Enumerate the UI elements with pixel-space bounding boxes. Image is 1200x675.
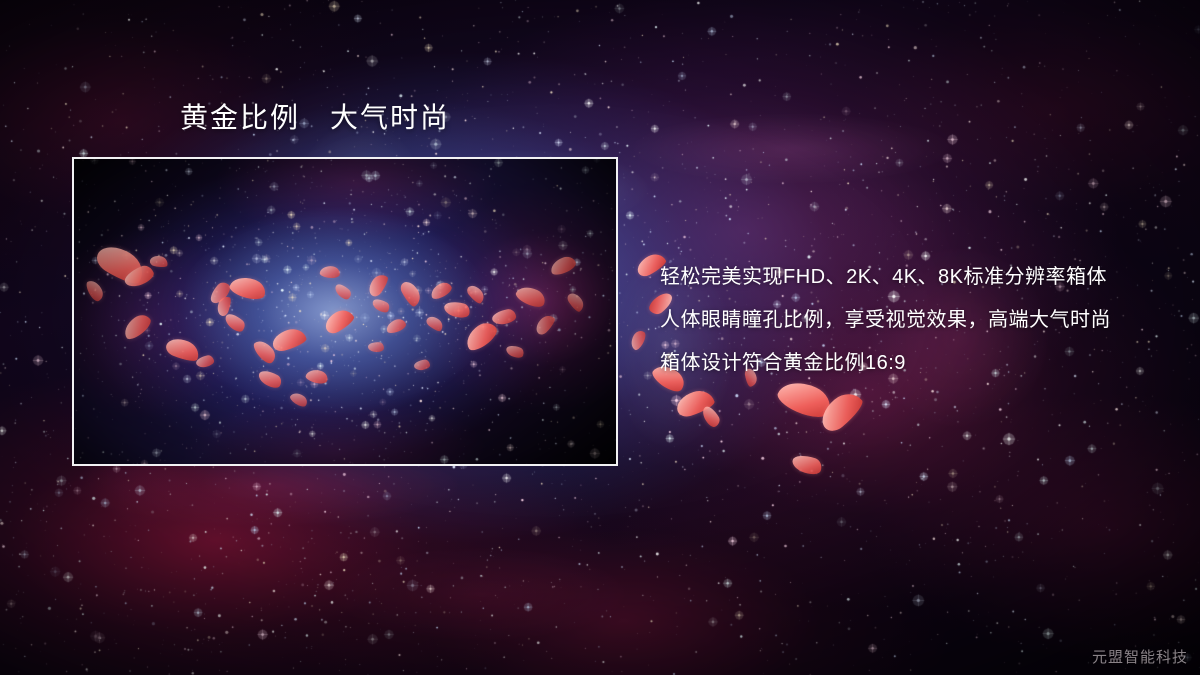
body-line-1: 轻松完美实现FHD、2K、4K、8K标准分辨率箱体 <box>660 256 1180 299</box>
petal <box>674 387 717 420</box>
body-line-2: 人体眼睛瞳孔比例，享受视觉效果，高端大气时尚 <box>660 299 1180 342</box>
petal <box>815 386 867 435</box>
watermark: 元盟智能科技 <box>1092 646 1188 667</box>
framed-image-nebula <box>74 159 616 464</box>
page-title: 黄金比例 大气时尚 <box>180 101 450 135</box>
body-line-3: 箱体设计符合黄金比例16:9 <box>660 342 1180 385</box>
presentation-slide: 黄金比例 大气时尚 轻松完美实现FHD、2K、4K、8K标准分辨率箱体 人体眼睛… <box>0 0 1200 675</box>
framed-image <box>72 157 618 466</box>
body-text-block: 轻松完美实现FHD、2K、4K、8K标准分辨率箱体 人体眼睛瞳孔比例，享受视觉效… <box>660 256 1180 385</box>
petal <box>628 328 648 351</box>
petal <box>700 404 722 430</box>
petal <box>790 452 824 477</box>
